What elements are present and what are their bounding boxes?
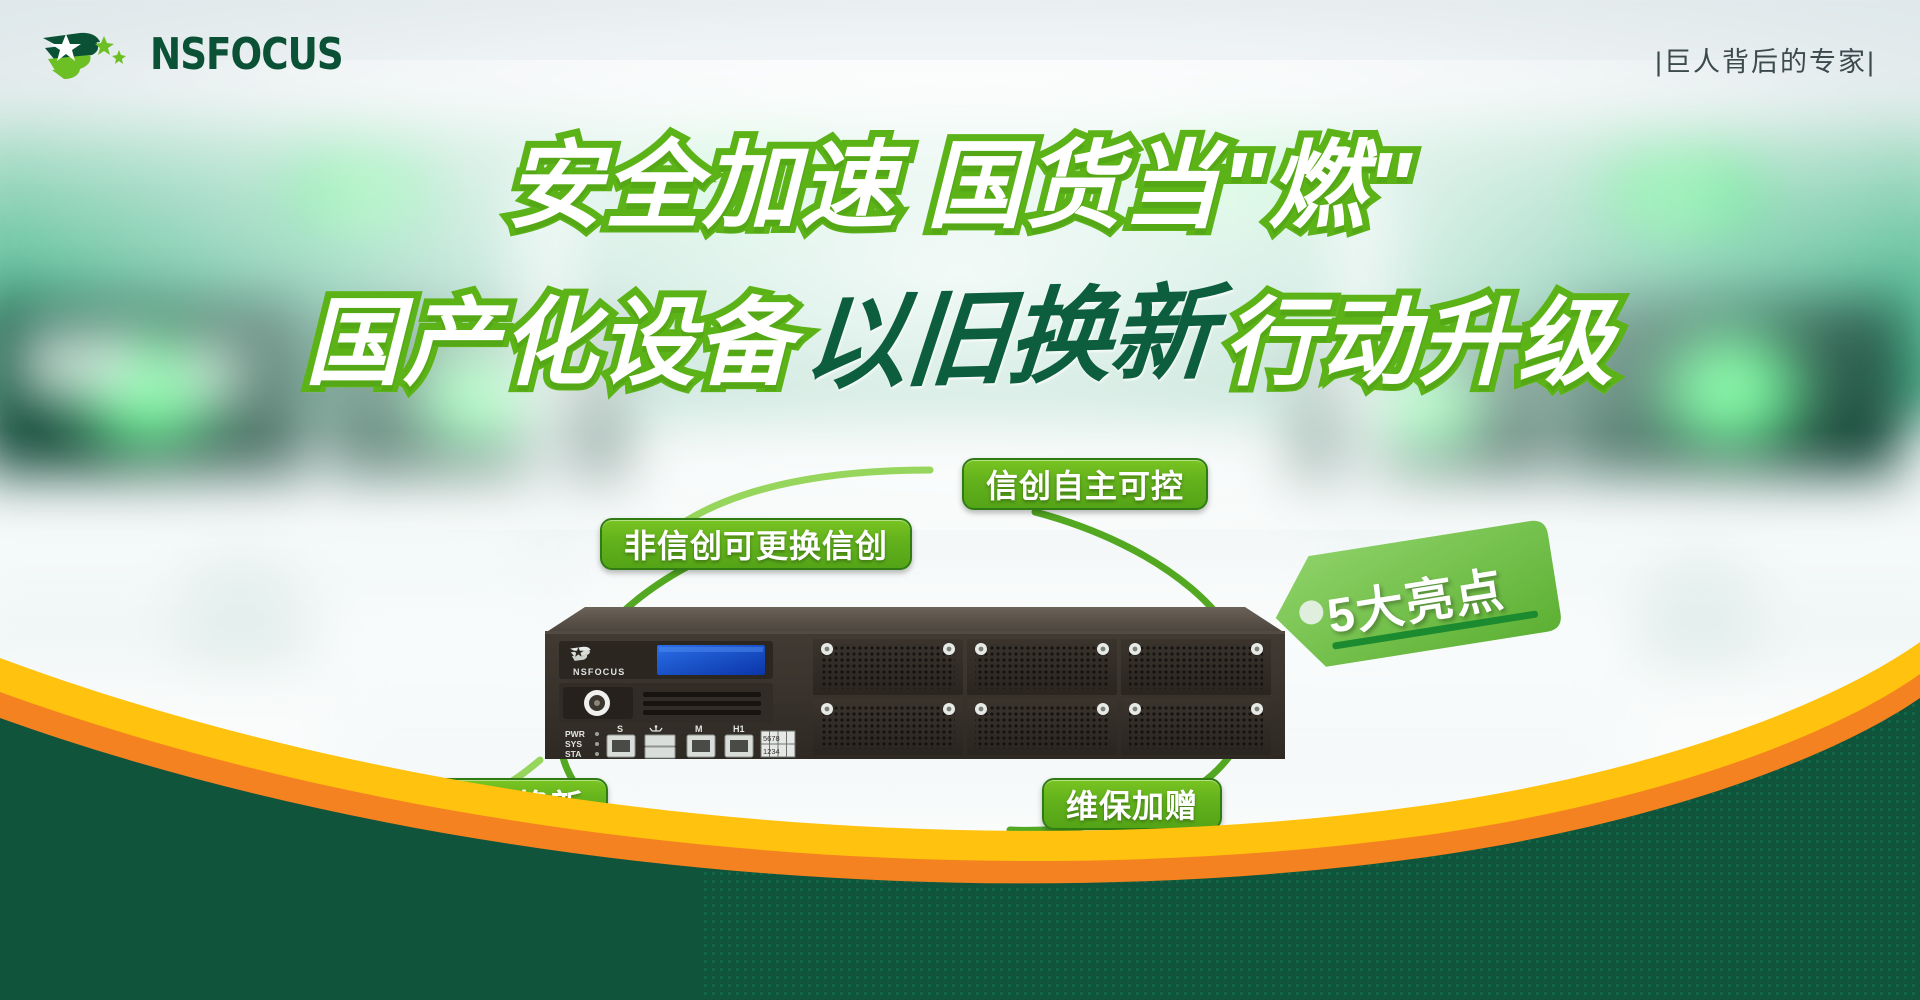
headline-line-1-text: 安全加速 国货当"燃" bbox=[506, 133, 1414, 240]
nsfocus-flag-star-logo-icon bbox=[40, 28, 136, 80]
highlight-label: 信创自主可控 bbox=[986, 461, 1184, 507]
headline-line-2-suffix: 行动升级 bbox=[1223, 265, 1615, 404]
headline-line-2: 国产化设备 以旧换新 行动升级 bbox=[0, 253, 1920, 404]
highlight-pill-xinchuang-autonomous[interactable]: 信创自主可控 bbox=[962, 458, 1208, 510]
headline-block: 安全加速 国货当"燃" 国产化设备 以旧换新 行动升级 bbox=[0, 108, 1920, 404]
headline-brush-text: 以旧换新 bbox=[799, 248, 1220, 410]
bottom-ribbon-art bbox=[0, 600, 1920, 1000]
brand-name: NSFOCUS bbox=[150, 29, 343, 80]
brand-logo[interactable]: NSFOCUS bbox=[40, 28, 355, 80]
highlight-label: 非信创可更换信创 bbox=[624, 521, 888, 567]
headline-line-2-prefix: 国产化设备 bbox=[305, 265, 795, 404]
brand-tagline: |巨人背后的专家| bbox=[1655, 40, 1876, 79]
highlight-pill-non-xinchuang-replace[interactable]: 非信创可更换信创 bbox=[600, 518, 912, 570]
headline-line-1: 安全加速 国货当"燃" bbox=[0, 108, 1920, 247]
promo-banner: NSFOCUS |巨人背后的专家| 安全加速 国货当"燃" 国产化设备 以旧换新… bbox=[0, 0, 1920, 1000]
